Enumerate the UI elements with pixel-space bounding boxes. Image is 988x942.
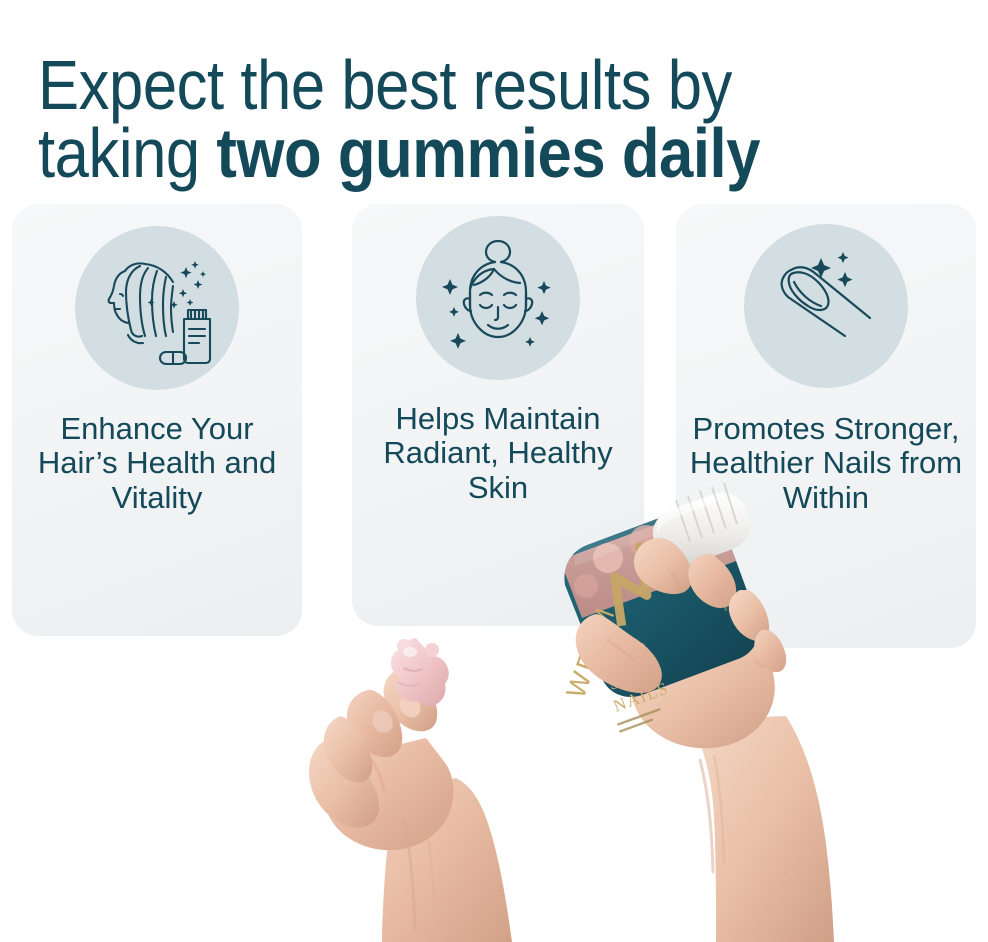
headline-bold-text: two gummies daily bbox=[216, 114, 760, 192]
benefit-card-nails: Promotes Stronger, Healthier Nails from … bbox=[676, 204, 976, 648]
benefit-card-skin-label: Helps Maintain Radiant, Healthy Skin bbox=[352, 402, 644, 505]
benefit-card-skin: Helps Maintain Radiant, Healthy Skin bbox=[352, 204, 644, 626]
woman-face-radiant-skin-icon bbox=[416, 216, 580, 380]
benefit-card-hair-label: Enhance Your Hair’s Health and Vitality bbox=[12, 412, 302, 515]
headline-line-2: taking two gummies daily bbox=[38, 119, 848, 188]
hair-strands-with-supplement-bottle-icon bbox=[75, 226, 239, 390]
fingernail-sparkle-icon bbox=[744, 224, 908, 388]
headline-regular-text: taking bbox=[38, 114, 216, 192]
page-headline: Expect the best results by taking two gu… bbox=[38, 51, 848, 188]
label-line-skin: SKIN bbox=[606, 660, 655, 693]
headline-line-1: Expect the best results by bbox=[38, 51, 848, 120]
left-hand-holding-gummy bbox=[309, 668, 512, 942]
benefit-card-hair: Enhance Your Hair’s Health and Vitality bbox=[12, 204, 302, 636]
benefit-cards-row: Enhance Your Hair’s Health and Vitality bbox=[0, 196, 988, 646]
label-line-nails: NAILS bbox=[611, 678, 672, 716]
pink-gummy-bear bbox=[391, 638, 449, 706]
benefit-card-nails-label: Promotes Stronger, Healthier Nails from … bbox=[676, 412, 976, 515]
bottle-label-lines: HAIR SKIN NAILS bbox=[601, 638, 672, 716]
